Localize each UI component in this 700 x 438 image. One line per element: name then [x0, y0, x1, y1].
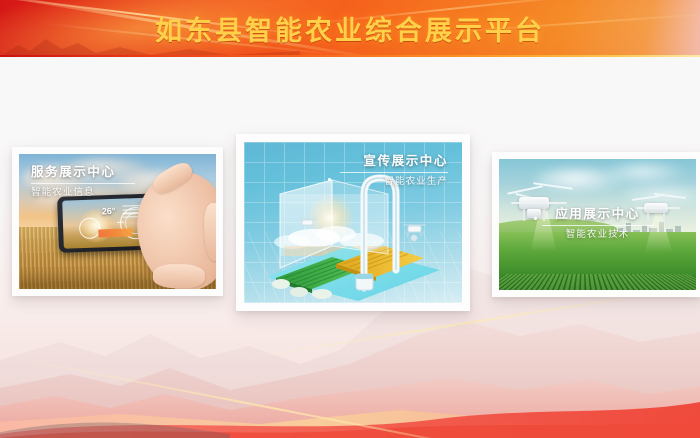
card-application-image: 应用展示中心 智能农业技术: [499, 159, 696, 290]
caption-dot: [328, 178, 331, 181]
card-application-subtitle: 智能农业技术: [542, 230, 654, 241]
caption-divider: [340, 172, 448, 173]
card-service-center[interactable]: 26° 服务展示中心: [12, 147, 223, 296]
finger: [152, 264, 204, 289]
card-service-image: 26° 服务展示中心: [19, 154, 216, 289]
card-application-title: 应用展示中心: [542, 207, 654, 221]
hud-tick: [117, 221, 124, 223]
card-promotion-subtitle: 智能农业生产: [340, 177, 448, 188]
card-service-caption: 服务展示中心 智能农业信息: [31, 165, 135, 199]
cloud: [607, 162, 687, 184]
card-service-subtitle: 智能农业信息: [31, 188, 135, 199]
card-promotion-center[interactable]: 宣传展示中心 智能农业生产: [236, 134, 470, 311]
card-application-caption: 应用展示中心 智能农业技术: [542, 207, 654, 241]
card-promotion-image: 宣传展示中心 智能农业生产: [244, 142, 462, 303]
platform-landing-page: 如东县智能农业综合展示平台 26°: [0, 0, 700, 438]
card-promotion-caption: 宣传展示中心 智能农业生产: [340, 154, 448, 188]
card-service-title: 服务展示中心: [31, 165, 135, 179]
finger: [203, 203, 216, 262]
caption-divider: [542, 225, 654, 226]
temperature-readout: 26°: [102, 205, 116, 215]
caption-dot: [534, 217, 537, 220]
banner-bottom-strip: [0, 55, 700, 57]
page-title: 如东县智能农业综合展示平台: [0, 0, 700, 57]
page-header-banner: 如东县智能农业综合展示平台: [0, 0, 700, 57]
caption-divider: [31, 183, 135, 184]
card-promotion-title: 宣传展示中心: [340, 154, 448, 168]
hud-chip: [99, 228, 133, 237]
card-application-center[interactable]: 应用展示中心 智能农业技术: [492, 152, 700, 297]
